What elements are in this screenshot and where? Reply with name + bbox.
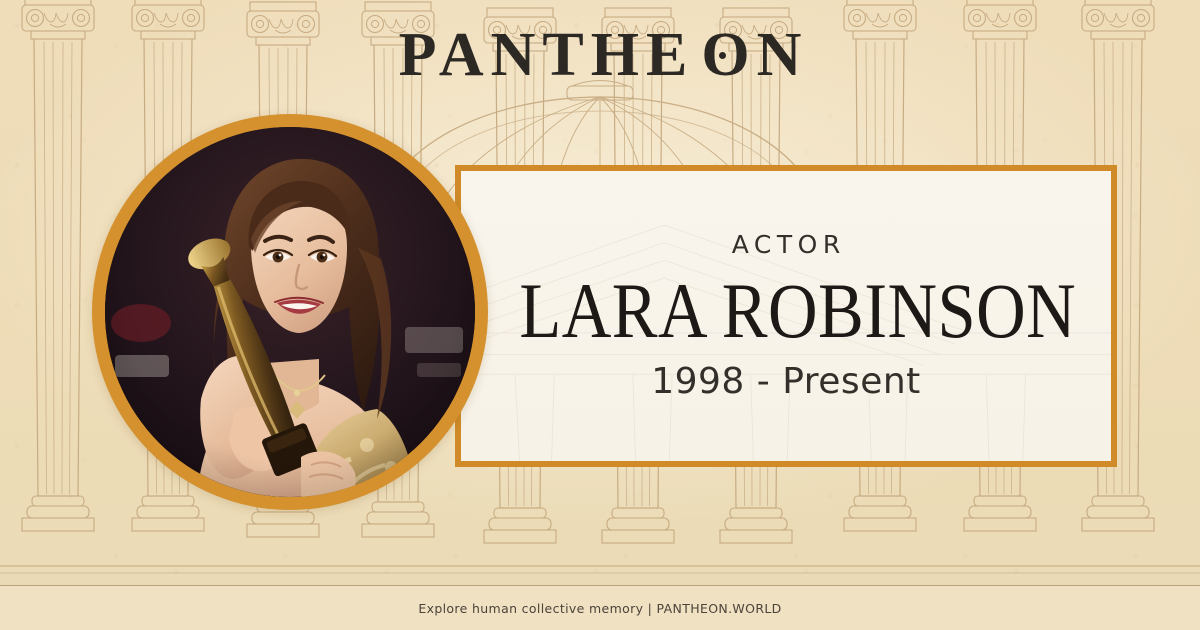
pantheon-social-card: PANTHEON (0, 0, 1200, 630)
brand-title-after: N (757, 21, 809, 89)
person-info-card: ACTOR LARA ROBINSON 1998 - Present (455, 165, 1117, 467)
person-name: LARA ROBINSON (519, 273, 1052, 349)
brand-title-o-glyph: O (694, 24, 756, 86)
footer-tagline[interactable]: Explore human collective memory | PANTHE… (418, 601, 781, 616)
brand-title-o-dot-icon (719, 52, 726, 59)
brand-title-o-letter: O (701, 21, 756, 89)
page-title: PANTHEON (0, 24, 1200, 86)
portrait-frame (92, 114, 488, 510)
portrait-photo (105, 127, 475, 497)
card-content: ACTOR LARA ROBINSON 1998 - Present (461, 230, 1111, 402)
footer-bar: Explore human collective memory | PANTHE… (0, 585, 1200, 630)
lifespan-label: 1998 - Present (483, 361, 1089, 402)
portrait-image-clip (105, 127, 475, 497)
occupation-label: ACTOR (483, 230, 1089, 259)
brand-title-before: PANTHE (399, 21, 695, 89)
